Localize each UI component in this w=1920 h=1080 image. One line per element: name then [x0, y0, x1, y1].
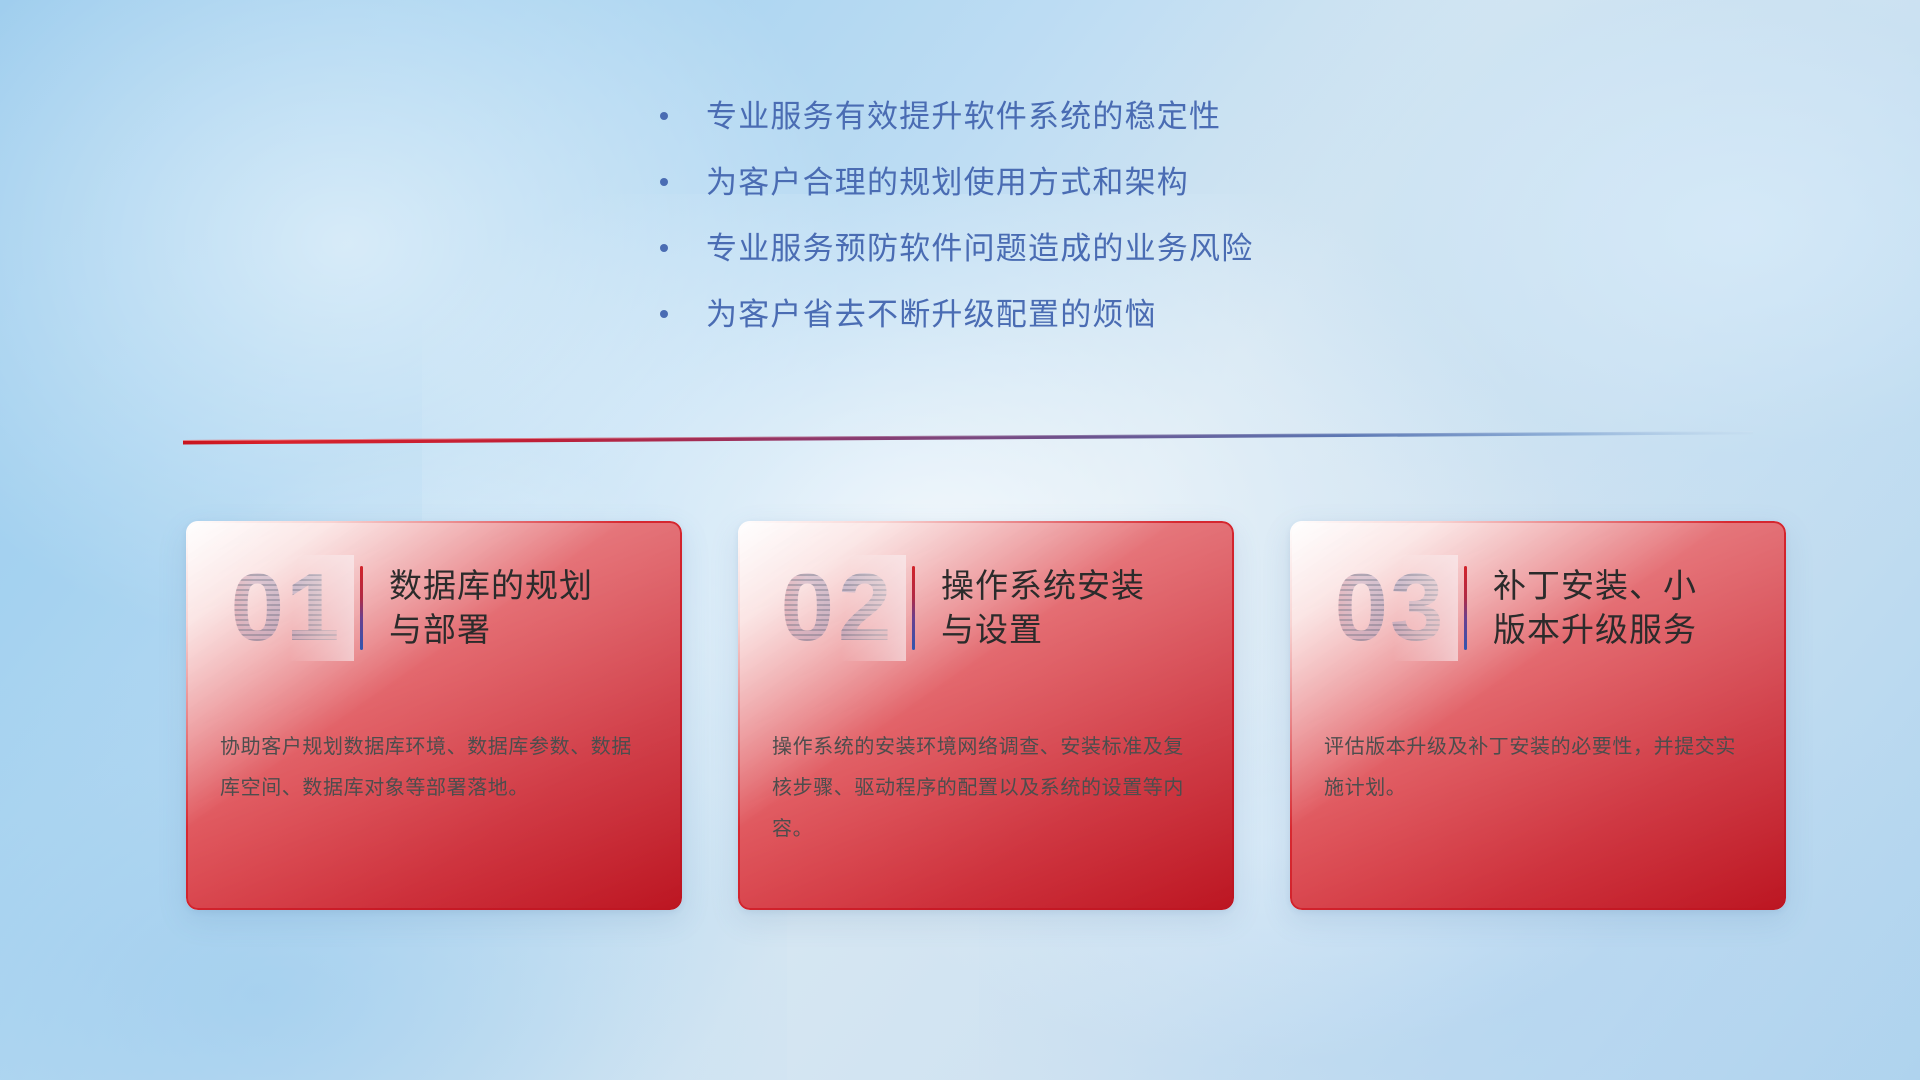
- card-number-fade-overlay: [218, 555, 354, 661]
- card-title-line: 操作系统安装: [941, 564, 1145, 608]
- card-header: 03 补丁安装、小 版本升级服务: [1290, 555, 1786, 661]
- bullet-text: 专业服务预防软件问题造成的业务风险: [706, 232, 1253, 266]
- benefits-bullet-list: 专业服务有效提升软件系统的稳定性 为客户合理的规划使用方式和架构 专业服务预防软…: [660, 100, 1460, 332]
- card-accent-bar: [912, 566, 915, 650]
- bullet-dot-icon: [660, 310, 668, 318]
- card-header: 02 操作系统安装 与设置: [738, 555, 1234, 661]
- bullet-dot-icon: [660, 112, 668, 120]
- bullet-text: 专业服务有效提升软件系统的稳定性: [706, 100, 1221, 134]
- card-title-line: 与部署: [389, 608, 593, 652]
- card-number-watermark: 01: [218, 555, 354, 661]
- card-accent-bar: [1464, 566, 1467, 650]
- bullet-text: 为客户合理的规划使用方式和架构: [706, 166, 1189, 200]
- bullet-item: 专业服务有效提升软件系统的稳定性: [660, 100, 1460, 134]
- service-card-03[interactable]: 03 补丁安装、小 版本升级服务 评估版本升级及补丁安装的必要性，并提交实施计划…: [1290, 521, 1786, 910]
- card-body-text: 评估版本升级及补丁安装的必要性，并提交实施计划。: [1324, 727, 1756, 809]
- bullet-item: 为客户省去不断升级配置的烦恼: [660, 298, 1460, 332]
- bullet-item: 为客户合理的规划使用方式和架构: [660, 166, 1460, 200]
- service-card-01[interactable]: 01 数据库的规划 与部署 协助客户规划数据库环境、数据库参数、数据库空间、数据…: [186, 521, 682, 910]
- card-title: 操作系统安装 与设置: [941, 564, 1145, 651]
- bullet-item: 专业服务预防软件问题造成的业务风险: [660, 232, 1460, 266]
- section-divider: [183, 427, 1753, 445]
- card-header: 01 数据库的规划 与部署: [186, 555, 682, 661]
- bullet-dot-icon: [660, 178, 668, 186]
- card-number-fade-overlay: [1322, 555, 1458, 661]
- service-cards-row: 01 数据库的规划 与部署 协助客户规划数据库环境、数据库参数、数据库空间、数据…: [186, 521, 1786, 910]
- card-title: 数据库的规划 与部署: [389, 564, 593, 651]
- card-title-line: 与设置: [941, 608, 1145, 652]
- card-body-text: 协助客户规划数据库环境、数据库参数、数据库空间、数据库对象等部署落地。: [220, 727, 652, 809]
- card-title-line: 版本升级服务: [1493, 608, 1697, 652]
- bullet-text: 为客户省去不断升级配置的烦恼: [706, 298, 1157, 332]
- card-title: 补丁安装、小 版本升级服务: [1493, 564, 1697, 651]
- card-title-line: 数据库的规划: [389, 564, 593, 608]
- card-number-fade-overlay: [770, 555, 906, 661]
- card-body-text: 操作系统的安装环境网络调查、安装标准及复核步骤、驱动程序的配置以及系统的设置等内…: [772, 727, 1204, 851]
- card-number-watermark: 03: [1322, 555, 1458, 661]
- card-accent-bar: [360, 566, 363, 650]
- card-title-line: 补丁安装、小: [1493, 564, 1697, 608]
- service-card-02[interactable]: 02 操作系统安装 与设置 操作系统的安装环境网络调查、安装标准及复核步骤、驱动…: [738, 521, 1234, 910]
- card-number-watermark: 02: [770, 555, 906, 661]
- divider-wedge-icon: [183, 427, 1753, 445]
- bullet-dot-icon: [660, 244, 668, 252]
